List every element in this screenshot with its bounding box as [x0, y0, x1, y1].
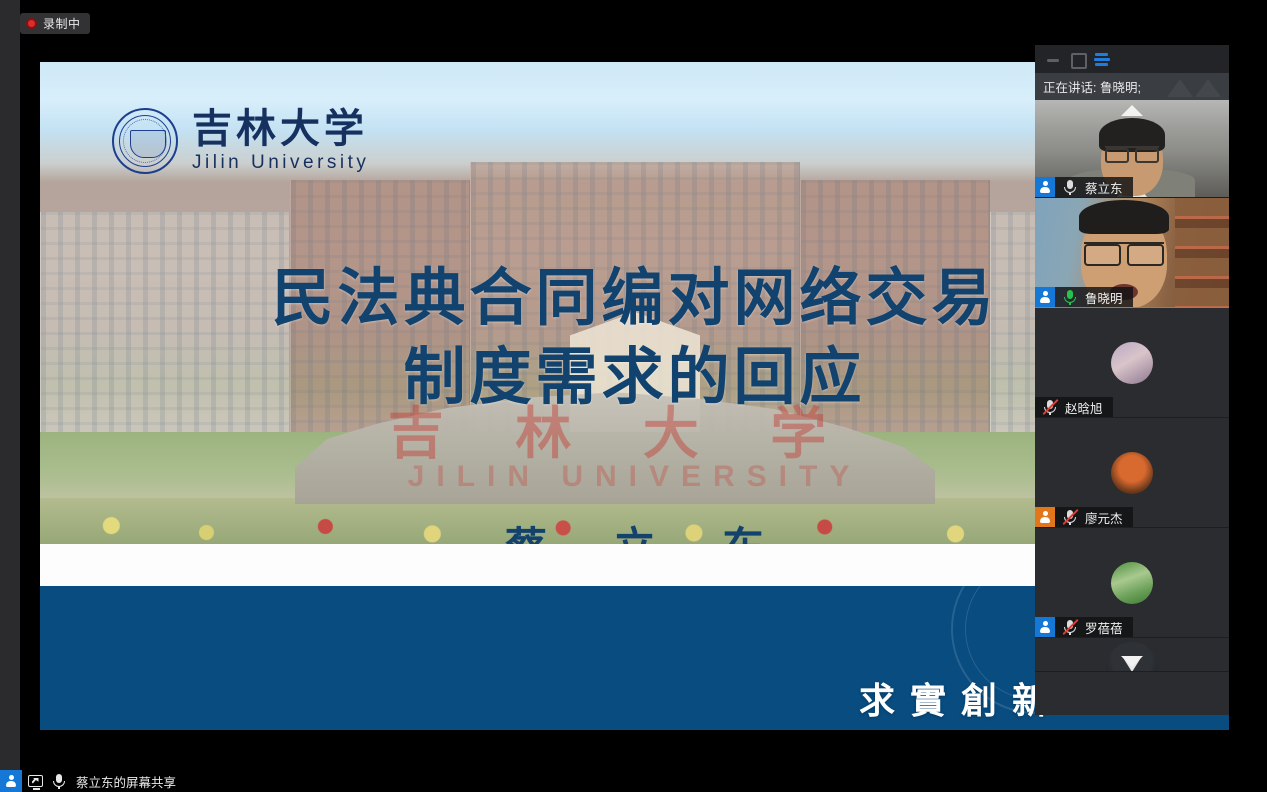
microphone-icon — [1061, 177, 1079, 197]
person-icon[interactable] — [0, 770, 22, 792]
recording-indicator[interactable]: 录制中 — [20, 13, 90, 34]
screen-share-icon[interactable] — [22, 770, 48, 792]
participant-tile-zhaoHanxu[interactable]: 赵晗旭 — [1035, 308, 1229, 418]
panel-titlebar — [1035, 45, 1229, 73]
person-badge-icon — [1035, 617, 1055, 637]
person-badge-icon — [1035, 507, 1055, 527]
participant-name: 廖元杰 — [1085, 508, 1123, 527]
participant-name: 赵晗旭 — [1065, 398, 1103, 417]
brand-watermark-icon — [1167, 76, 1223, 97]
bottom-status-bar: 蔡立东的屏幕共享 — [0, 770, 1267, 792]
microphone-icon[interactable] — [48, 770, 70, 792]
microphone-muted-icon — [1061, 617, 1079, 637]
participants-panel: 正在讲话: 鲁晓明; 蔡立东 — [1035, 45, 1229, 715]
list-layout-icon[interactable] — [1094, 52, 1110, 66]
jilin-university-logo: 吉林大学 Jilin University — [112, 108, 369, 174]
person-badge-icon — [1035, 177, 1055, 197]
scroll-up-arrow-icon[interactable] — [1121, 105, 1143, 116]
speaking-label: 正在讲话: 鲁晓明; — [1043, 77, 1141, 96]
avatar — [1111, 342, 1153, 384]
participant-name: 罗蓓蓓 — [1085, 618, 1123, 637]
university-seal-icon — [112, 108, 178, 174]
avatar — [1111, 452, 1153, 494]
scroll-down-arrow-icon[interactable] — [1121, 656, 1143, 667]
name-bar: 蔡立东 — [1035, 177, 1133, 197]
name-bar: 赵晗旭 — [1035, 397, 1113, 417]
microphone-muted-icon — [1041, 397, 1059, 417]
participant-tile-liaoYuanjie[interactable]: 廖元杰 — [1035, 418, 1229, 528]
microphone-active-icon — [1061, 287, 1079, 307]
participant-tile-luoBeibei[interactable]: 罗蓓蓓 — [1035, 528, 1229, 638]
microphone-muted-icon — [1061, 507, 1079, 527]
participant-tile-caiLidong[interactable]: 蔡立东 — [1035, 100, 1229, 198]
name-bar: 鲁晓明 — [1035, 287, 1133, 307]
recording-label: 录制中 — [43, 15, 81, 32]
minimize-icon[interactable] — [1046, 52, 1060, 66]
maximize-icon[interactable] — [1070, 52, 1084, 66]
participant-tiles[interactable]: 蔡立东 鲁晓明 — [1035, 100, 1229, 715]
participant-tile-next-partial[interactable] — [1035, 638, 1229, 672]
university-motto: 求實創新 — [859, 672, 1063, 724]
app-root: 录制中 吉 林 大 学 JILIN UNIVERSITY 吉林大学 Jilin … — [0, 0, 1267, 792]
name-bar: 罗蓓蓓 — [1035, 617, 1133, 637]
participant-tile-luXiaoming[interactable]: 鲁晓明 — [1035, 198, 1229, 308]
record-dot-icon — [26, 18, 37, 29]
name-bar: 廖元杰 — [1035, 507, 1133, 527]
logo-name-cn: 吉林大学 — [192, 108, 369, 150]
avatar — [1111, 562, 1153, 604]
share-status-text: 蔡立东的屏幕共享 — [76, 772, 176, 791]
speaking-status-bar: 正在讲话: 鲁晓明; — [1035, 73, 1229, 100]
participant-name: 蔡立东 — [1085, 178, 1123, 197]
participant-name: 鲁晓明 — [1085, 288, 1123, 307]
logo-name-en: Jilin University — [192, 152, 369, 174]
left-dark-strip — [0, 0, 20, 770]
person-badge-icon — [1035, 287, 1055, 307]
